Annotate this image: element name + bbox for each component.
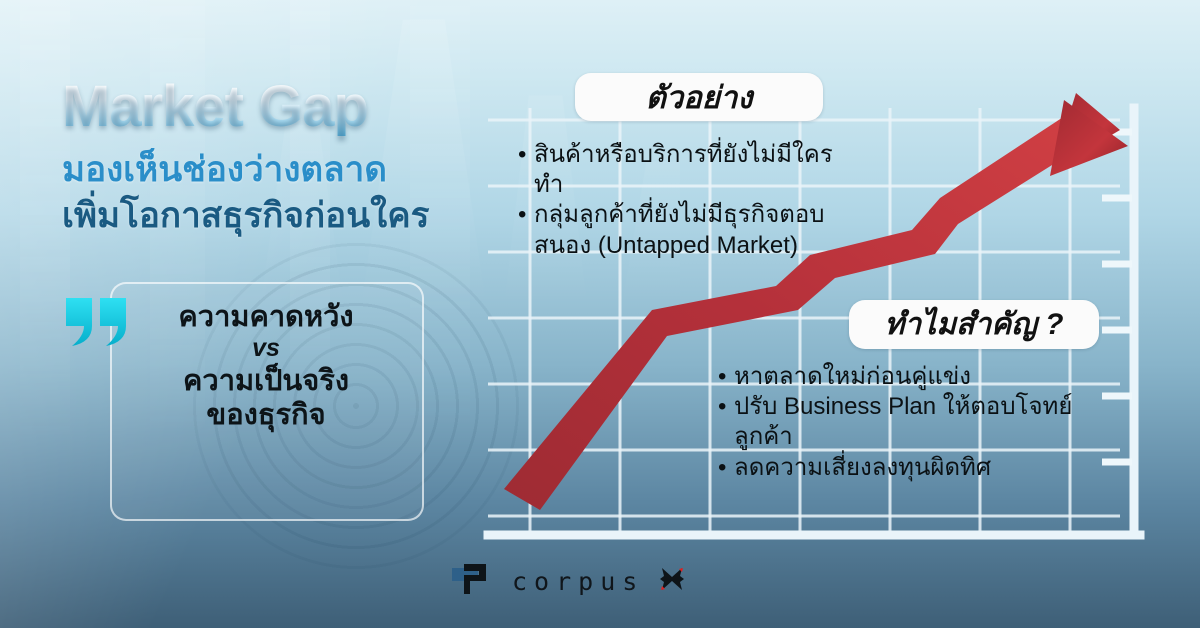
example-bullet-list: • สินค้าหรือบริการที่ยังไม่มีใครทำ • กลุ… [518, 140, 848, 261]
why-pill-label: ทำไมสำคัญ ? [849, 300, 1099, 349]
list-item: • ปรับ Business Plan ให้ตอบโจทย์ลูกค้า [718, 392, 1078, 452]
list-item-label: กลุ่มลูกค้าที่ยังไม่มีธุรกิจตอบสนอง (Unt… [534, 200, 848, 260]
quote-line-4: ของธุรกิจ [120, 398, 412, 432]
bullet-dot-icon: • [518, 140, 534, 170]
subtitle-line-2: เพิ่มโอกาสธุรกิจก่อนใคร [62, 196, 429, 235]
example-pill-label: ตัวอย่าง [575, 73, 823, 121]
cp-monogram-icon [452, 564, 498, 599]
expectation-vs-reality-block: ความคาดหวัง vs ความเป็นจริง ของธุรกิจ [120, 300, 412, 432]
quote-line-1: ความคาดหวัง [120, 300, 412, 334]
bullet-dot-icon: • [718, 453, 734, 483]
list-item-label: ลดความเสี่ยงลงทุนผิดทิศ [734, 453, 991, 483]
page-title: Market Gap [62, 78, 368, 136]
list-item: • สินค้าหรือบริการที่ยังไม่มีใครทำ [518, 140, 848, 200]
list-item: • หาตลาดใหม่ก่อนคู่แข่ง [718, 362, 1078, 392]
list-item: • ลดความเสี่ยงลงทุนผิดทิศ [718, 453, 1078, 483]
poster-canvas: Market Gap มองเห็นช่องว่างตลาด เพิ่มโอกา… [0, 0, 1200, 628]
chart-axis-ticks [1102, 132, 1132, 462]
list-item-label: หาตลาดใหม่ก่อนคู่แข่ง [734, 362, 971, 392]
quote-line-2: vs [120, 334, 412, 364]
subtitle-line-1: มองเห็นช่องว่างตลาด [62, 150, 387, 189]
left-content-column: Market Gap มองเห็นช่องว่างตลาด เพิ่มโอกา… [0, 0, 480, 628]
bullet-dot-icon: • [718, 392, 734, 422]
bullet-dot-icon: • [718, 362, 734, 392]
brand-logo: corpus [452, 562, 752, 600]
bullet-dot-icon: • [518, 200, 534, 230]
quote-line-3: ความเป็นจริง [120, 364, 412, 398]
list-item-label: ปรับ Business Plan ให้ตอบโจทย์ลูกค้า [734, 392, 1078, 452]
logo-wordmark: corpus [512, 567, 644, 596]
why-bullet-list: • หาตลาดใหม่ก่อนคู่แข่ง • ปรับ Business … [718, 362, 1078, 483]
x-mark-icon [658, 565, 686, 598]
list-item: • กลุ่มลูกค้าที่ยังไม่มีธุรกิจตอบสนอง (U… [518, 200, 848, 260]
list-item-label: สินค้าหรือบริการที่ยังไม่มีใครทำ [534, 140, 848, 200]
